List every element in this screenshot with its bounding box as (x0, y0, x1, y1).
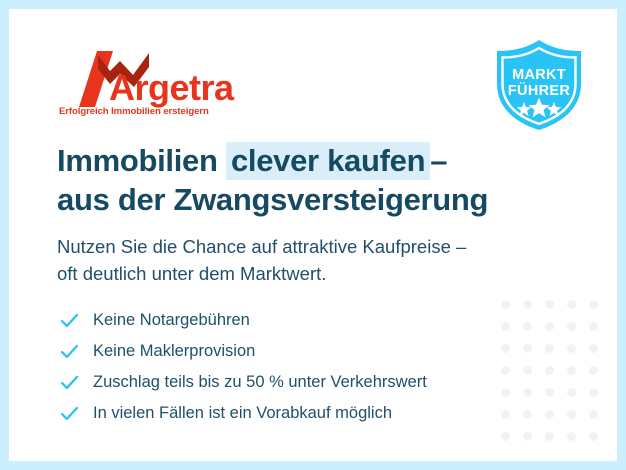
benefit-label: Keine Maklerprovision (93, 342, 255, 362)
subheadline: Nutzen Sie die Chance auf attraktive Kau… (57, 233, 537, 288)
headline: Immobilien clever kaufen– aus der Zwangs… (57, 141, 527, 220)
list-item: Keine Notargebühren (59, 305, 427, 336)
benefit-label: Zuschlag teils bis zu 50 % unter Verkehr… (93, 373, 427, 393)
logo-tagline: Erfolgreich Immobilien ersteigern (59, 106, 209, 117)
banner-canvas: Argetra Erfolgreich Immobilien ersteiger… (9, 9, 617, 461)
dot-grid-decoration (494, 293, 604, 447)
benefits-list: Keine Notargebühren Keine Maklerprovisio… (59, 305, 427, 429)
list-item: In vielen Fällen ist ein Vorabkauf mögli… (59, 398, 427, 429)
check-icon (59, 310, 80, 331)
list-item: Keine Maklerprovision (59, 336, 427, 367)
headline-highlight: clever kaufen (226, 142, 430, 180)
market-leader-badge: MARKT FÜHRER (491, 37, 587, 133)
subheadline-line2: oft deutlich unter dem Marktwert. (57, 263, 326, 284)
subheadline-line1: Nutzen Sie die Chance auf attraktive Kau… (57, 236, 466, 257)
logo-wordmark: Argetra (109, 67, 235, 108)
headline-line1-before: Immobilien (57, 143, 218, 178)
badge-line-2: FÜHRER (508, 82, 570, 99)
list-item: Zuschlag teils bis zu 50 % unter Verkehr… (59, 367, 427, 398)
check-icon (59, 403, 80, 424)
argetra-logo[interactable]: Argetra Erfolgreich Immobilien ersteiger… (57, 45, 242, 117)
check-icon (59, 372, 80, 393)
badge-line-1: MARKT (512, 67, 566, 83)
benefit-label: Keine Notargebühren (93, 311, 250, 331)
promo-banner: Argetra Erfolgreich Immobilien ersteiger… (0, 0, 626, 470)
benefit-label: In vielen Fällen ist ein Vorabkauf mögli… (93, 404, 392, 424)
check-icon (59, 341, 80, 362)
headline-line2: aus der Zwangsversteigerung (57, 182, 488, 217)
headline-line1-after: – (430, 143, 447, 178)
